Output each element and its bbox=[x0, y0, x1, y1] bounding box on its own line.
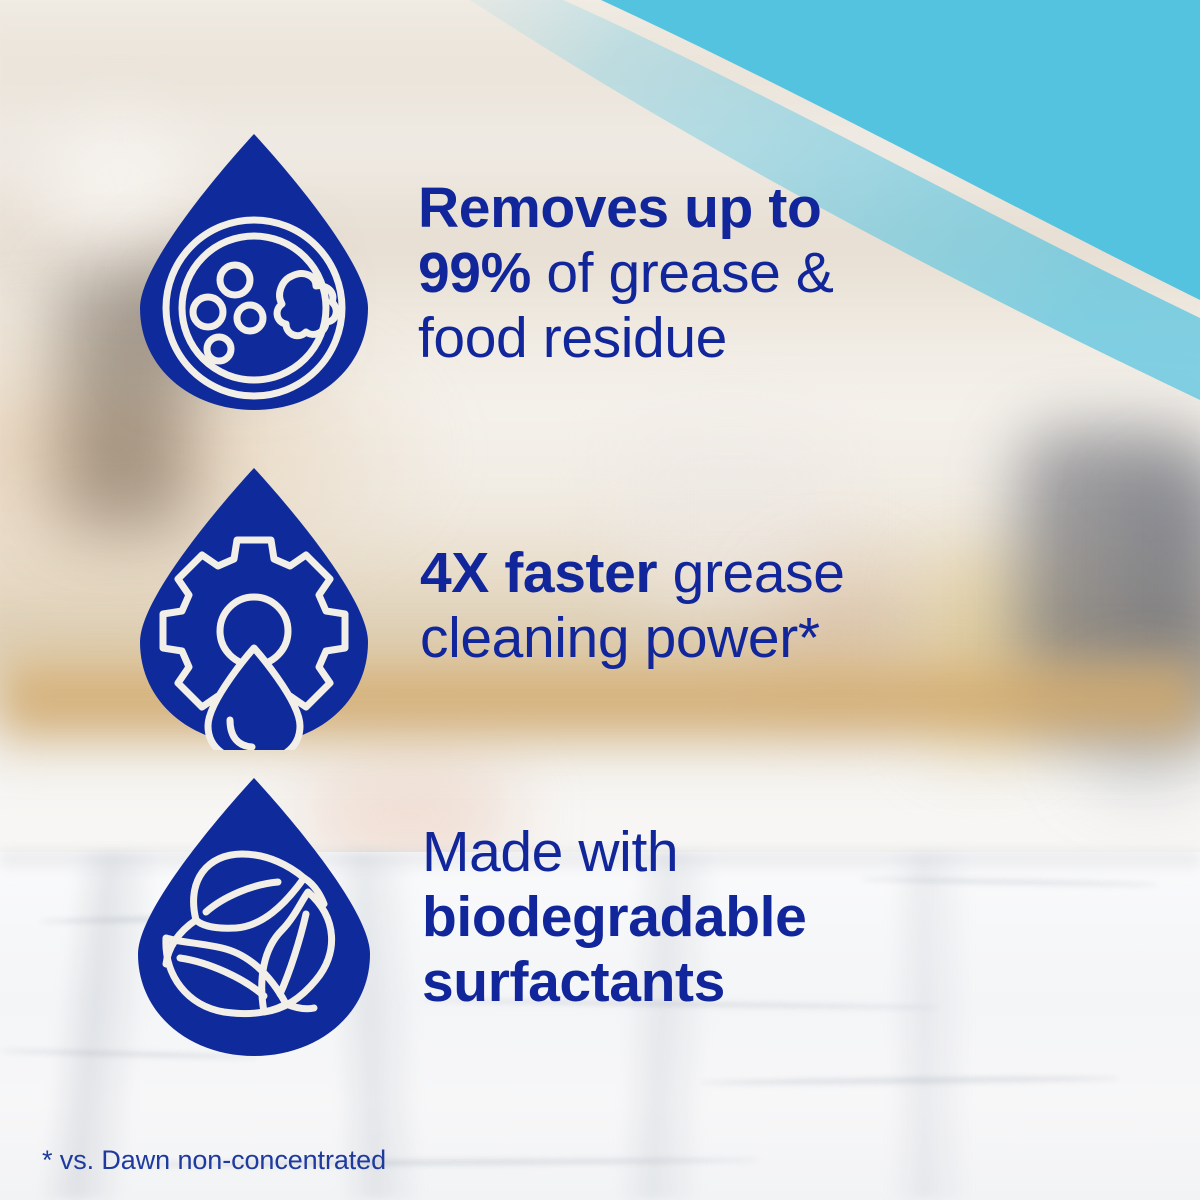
feature-biodegradable: Made with biodegradable surfactants bbox=[138, 772, 806, 1062]
feature-1-line2: of grease & bbox=[531, 241, 834, 305]
feature-3-line1: Made with bbox=[422, 820, 678, 884]
feature-2-line1: grease bbox=[657, 541, 844, 605]
feature-grease-removal: Removes up to 99% of grease & food resid… bbox=[140, 128, 833, 416]
feature-2-highlight: 4X faster bbox=[420, 541, 657, 605]
feature-3-text: Made with biodegradable surfactants bbox=[422, 820, 806, 1015]
feature-2-text: 4X faster grease cleaning power* bbox=[420, 541, 845, 671]
feature-1-line1: Removes up to bbox=[418, 176, 821, 240]
feature-1-highlight: 99% bbox=[418, 241, 531, 305]
feature-1-text: Removes up to 99% of grease & food resid… bbox=[418, 176, 833, 371]
infographic-canvas: Removes up to 99% of grease & food resid… bbox=[0, 0, 1200, 1200]
gear-droplet-icon bbox=[140, 462, 368, 750]
feature-3-highlight: biodegradable bbox=[422, 885, 806, 949]
feature-3-line3: surfactants bbox=[422, 950, 725, 1014]
footnote-disclaimer: * vs. Dawn non-concentrated bbox=[42, 1145, 386, 1176]
feature-2-line2: cleaning power* bbox=[420, 606, 820, 670]
feature-1-line3: food residue bbox=[418, 306, 727, 370]
feature-cleaning-speed: 4X faster grease cleaning power* bbox=[140, 462, 845, 750]
plate-with-food-residue-icon bbox=[140, 128, 368, 416]
three-leaves-recycle-icon bbox=[138, 772, 370, 1062]
